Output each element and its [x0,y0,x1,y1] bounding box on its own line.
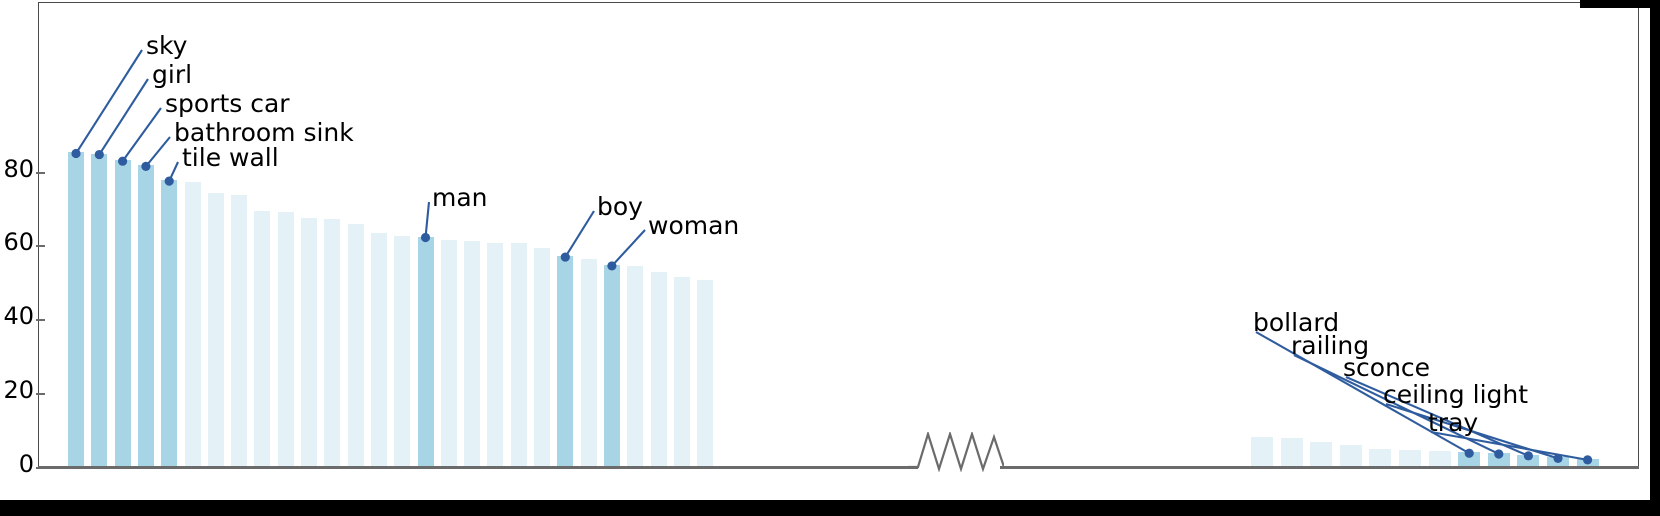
bar-man [418,237,434,467]
bar-b28 [697,280,713,467]
bar-b7 [208,193,224,467]
bar-tile-wall [161,180,177,467]
annotation-label-sconce: sconce [1343,355,1430,380]
bar-b13 [348,224,364,467]
bar-r5 [1369,449,1391,467]
bar-b11 [301,218,317,467]
bar-railing [1488,453,1510,467]
annotation-label-girl: girl [152,62,192,87]
bar-b19 [487,243,503,467]
annotation-label-woman: woman [648,213,739,238]
bar-b10 [278,212,294,467]
x-axis-baseline-right [1000,466,1639,469]
bar-sports-car [115,160,131,467]
chart-root: IoU (%) 80 60 40 20 0 sky girl sports ca… [0,0,1660,516]
x-axis-baseline-left [38,466,918,469]
bar-bollard [1458,452,1480,467]
bar-b21 [534,248,550,467]
bar-r1 [1251,437,1273,467]
annotation-label-man: man [432,185,488,210]
axis-break-zigzag-icon [908,432,1004,472]
bar-boy [557,256,573,467]
bar-r7 [1429,451,1451,467]
annotation-label-sports-car: sports car [165,91,290,116]
bar-r3 [1310,442,1332,467]
frame-edge-bottom [0,500,1660,516]
annotation-label-ceiling-light: ceiling light [1383,382,1528,407]
bar-b15 [394,236,410,467]
bar-b9 [254,211,270,467]
bar-sky [68,152,84,467]
bar-r6 [1399,450,1421,467]
bar-b26 [651,272,667,467]
annotation-label-sky: sky [146,33,187,58]
bar-bathroom-sink [138,165,154,467]
bar-girl [91,154,107,467]
bar-woman [604,265,620,467]
bar-r4 [1340,445,1362,467]
bar-b25 [627,266,643,467]
annotation-label-bathroom-sink: bathroom sink [174,120,354,145]
bar-b23 [581,259,597,467]
bar-b17 [441,240,457,467]
bar-b6 [185,182,201,467]
annotation-label-tile-wall: tile wall [182,145,279,170]
bar-b18 [464,241,480,467]
frame-edge-right [1650,0,1660,516]
bar-b8 [231,195,247,467]
bar-b12 [324,219,340,467]
bar-r2 [1281,438,1303,468]
bar-b27 [674,277,690,467]
annotation-label-boy: boy [597,194,643,219]
annotation-label-tray: tray [1428,410,1478,435]
bar-b20 [511,243,527,467]
bar-b14 [371,233,387,467]
frame-edge-top [1580,0,1660,8]
